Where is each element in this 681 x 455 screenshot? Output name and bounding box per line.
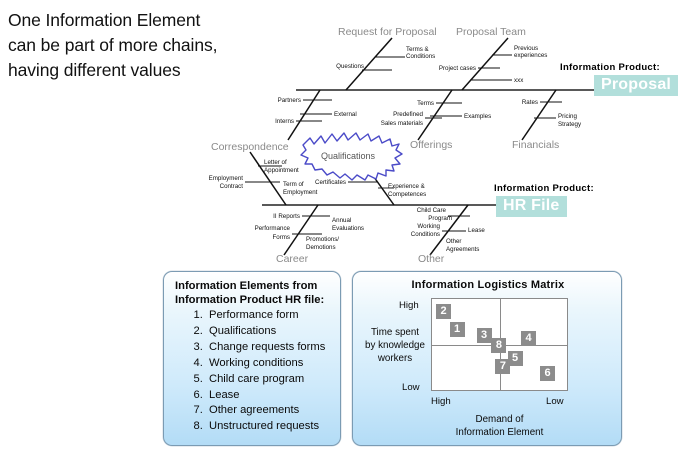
bone-label: Other <box>446 238 461 245</box>
bone-label: Term of <box>283 181 304 188</box>
bone-label: Rates <box>522 99 538 106</box>
matrix-y-tick-high: High <box>399 300 419 311</box>
bone-label: Evaluations <box>332 225 364 232</box>
matrix-y-tick-low: Low <box>402 382 420 393</box>
bone-request-for-proposal: Request for Proposal Terms & Conditions … <box>336 26 437 90</box>
list-item: Working conditions <box>206 356 325 372</box>
bone-label: External <box>334 111 357 118</box>
bone-label: Predefined <box>393 111 423 118</box>
bone-label: Program <box>428 215 452 222</box>
bone-label: Working <box>417 223 440 230</box>
bone-label: Performance <box>255 225 291 232</box>
bone-label: Annual <box>332 217 351 224</box>
bone-label: Demotions <box>306 244 336 251</box>
list-item: Other agreements <box>206 403 325 419</box>
bone-label: Forms <box>272 234 290 241</box>
category-label: Offerings <box>410 139 452 151</box>
bone-offerings: Offerings Terms Examples Predefined Sale… <box>381 90 491 151</box>
bone-label: Lease <box>468 227 485 234</box>
fishbone-diagram: .spine{stroke:#222;stroke-width:1.6;fill… <box>0 0 681 270</box>
bone-label: Agreements <box>446 246 479 253</box>
matrix-title: Information Logistics Matrix <box>353 279 623 291</box>
info-product-title: Information Product: <box>560 62 678 73</box>
bone-label: Employment <box>209 175 244 182</box>
matrix-point-7: 7 <box>495 359 510 374</box>
category-label: Proposal Team <box>456 26 526 38</box>
bone-label: Promotions/ <box>306 236 339 243</box>
matrix-y-axis-label: Time spentby knowledgeworkers <box>361 326 429 365</box>
bone-label: Contract <box>220 183 244 190</box>
information-elements-panel: Information Elements fromInformation Pro… <box>163 271 341 446</box>
information-logistics-matrix-panel: Information Logistics Matrix Time spentb… <box>352 271 622 446</box>
matrix-point-8: 8 <box>491 338 506 353</box>
list-item: Qualifications <box>206 324 325 340</box>
bone-correspondence: Correspondence Letter of Appointment Emp… <box>209 141 318 205</box>
bone-proposal-team: Proposal Team Previous experiences Proje… <box>439 26 548 90</box>
category-label: Request for Proposal <box>338 26 437 38</box>
bone-label: Examples <box>464 113 491 120</box>
bone-label: Interns <box>275 118 294 125</box>
bone-label: Previous <box>514 45 538 52</box>
bone-other: Other Child Care Program Working Conditi… <box>411 205 486 265</box>
bone-label: Certificates <box>315 179 346 186</box>
bone-label: Appointment <box>264 167 299 174</box>
list-item: Lease <box>206 388 325 404</box>
bone-label: Experience & <box>388 183 426 190</box>
category-label: Correspondence <box>211 141 289 153</box>
bone-label: Strategy <box>558 121 582 128</box>
bone-career: Career II Reports Annual Evaluations Per… <box>255 205 364 265</box>
list-panel-heading: Information Elements fromInformation Pro… <box>175 280 335 307</box>
bone-label: Child Care <box>417 207 447 214</box>
info-product-title: Information Product: <box>494 183 594 194</box>
bone-label: Questions <box>336 63 364 70</box>
bone-label: Terms & <box>406 46 430 53</box>
bone-label: Partners <box>278 97 301 104</box>
bone-label: experiences <box>514 52 547 59</box>
qualifications-starburst: Qualifications <box>301 133 402 180</box>
list-item: Performance form <box>206 308 325 324</box>
list-item: Unstructured requests <box>206 419 325 435</box>
matrix-point-3: 3 <box>477 328 492 343</box>
matrix-point-2: 2 <box>436 304 451 319</box>
matrix-x-tick-high: High <box>431 396 451 407</box>
info-product-hr-file: Information Product: HR File <box>494 183 594 217</box>
bone-label: Terms <box>417 100 434 107</box>
matrix-point-6: 6 <box>540 366 555 381</box>
bone-label: xxx <box>514 77 524 84</box>
matrix-point-1: 1 <box>450 322 465 337</box>
bone-label: Competences <box>388 191 426 198</box>
category-label: Other <box>418 253 445 265</box>
bone-label: Sales materials <box>381 120 423 127</box>
bone-label: II Reports <box>273 213 300 220</box>
list-item: Child care program <box>206 372 325 388</box>
bone-financials: Financials Rates Pricing Strategy <box>512 90 582 151</box>
category-label: Financials <box>512 139 559 151</box>
bone-label: Conditions <box>406 53 435 60</box>
information-elements-list: Performance formQualificationsChange req… <box>187 308 325 435</box>
category-label: Career <box>276 253 309 265</box>
matrix-plot-area: 12345678 <box>431 298 568 391</box>
list-item: Change requests forms <box>206 340 325 356</box>
starburst-label: Qualifications <box>321 151 376 161</box>
bone-label: Conditions <box>411 231 440 238</box>
bone-label: Letter of <box>264 159 287 166</box>
bone-label: Pricing <box>558 113 577 120</box>
bone-label: Project cases <box>439 65 476 72</box>
matrix-x-tick-low: Low <box>546 396 564 407</box>
info-product-chip-hr-file: HR File <box>496 196 567 217</box>
info-product-proposal: Information Product: Proposal <box>560 62 678 96</box>
matrix-x-axis-label: Demand ofInformation Element <box>431 414 568 439</box>
matrix-point-4: 4 <box>521 331 536 346</box>
info-product-chip-proposal: Proposal <box>594 75 678 96</box>
bone-label: Employment <box>283 189 318 196</box>
